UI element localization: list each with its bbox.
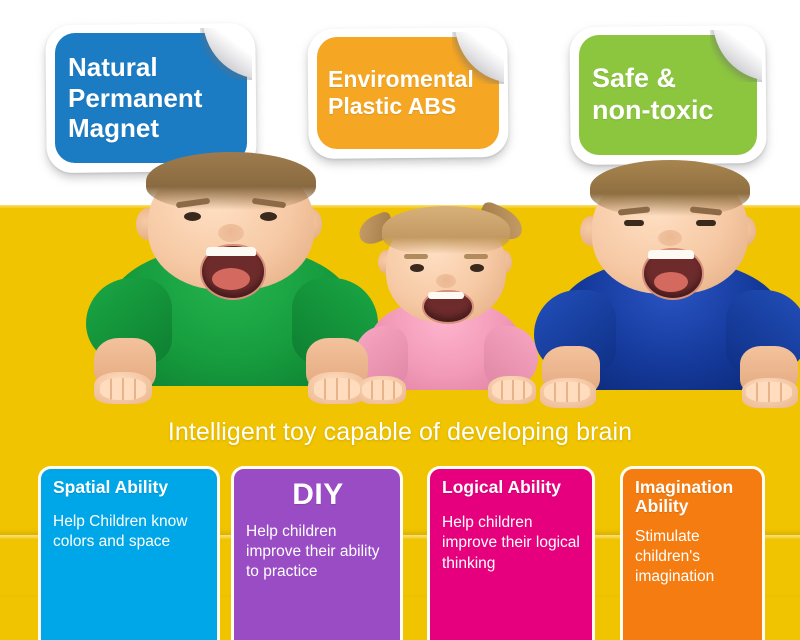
- eye-right: [260, 212, 277, 221]
- fingers-left: [100, 378, 146, 400]
- nose: [658, 230, 682, 246]
- eye-left: [184, 212, 201, 221]
- card-diy: DIY Help children improve their ability …: [231, 466, 403, 640]
- fingers-left: [544, 382, 590, 402]
- sticker-label: Enviromental Plastic ABS: [308, 28, 508, 158]
- card-body: Stimulate children's imagination: [635, 527, 752, 587]
- eyebrow-left: [404, 254, 428, 259]
- tongue: [212, 268, 250, 290]
- sticker-line-1: Enviromental: [328, 66, 490, 93]
- card-body: Help Children know colors and space: [53, 512, 207, 552]
- teeth-upper: [428, 292, 464, 299]
- card-heading: Spatial Ability: [53, 478, 207, 497]
- card-body: Help children improve their ability to p…: [246, 522, 390, 582]
- sticker-line-3: Magnet: [68, 113, 238, 143]
- child-boy-green-shirt: [80, 150, 380, 400]
- sticker-line-2: non-toxic: [592, 95, 748, 127]
- eyebrow-right: [464, 254, 488, 259]
- sticker-line-2: Plastic ABS: [328, 93, 490, 120]
- hair-fringe: [382, 206, 510, 254]
- card-heading: DIY: [246, 478, 390, 511]
- child-boy-blue-shirt: [530, 150, 800, 400]
- card-heading: Logical Ability: [442, 478, 582, 497]
- product-infographic: Natural Permanent Magnet Enviromental Pl…: [0, 0, 800, 640]
- card-spatial-ability: Spatial Ability Help Children know color…: [38, 466, 220, 640]
- sticker-line-1: Natural: [68, 52, 238, 82]
- card-logical-ability: Logical Ability Help children improve th…: [427, 466, 595, 640]
- teeth-upper: [648, 250, 694, 259]
- hair: [590, 160, 750, 216]
- sticker-label: Safe & non-toxic: [570, 26, 766, 164]
- teeth-upper: [206, 247, 256, 256]
- tagline: Intelligent toy capable of developing br…: [0, 418, 800, 447]
- eye-left: [410, 264, 424, 272]
- card-heading: Imagination Ability: [635, 478, 752, 517]
- child-girl-pink-shirt: [352, 150, 542, 400]
- sticker-line-2: Permanent: [68, 83, 238, 113]
- fingers-right: [746, 382, 792, 402]
- children-photo-group: [0, 150, 800, 400]
- fingers-right: [492, 380, 532, 400]
- tongue: [654, 272, 688, 292]
- nose: [436, 274, 456, 288]
- nose: [218, 224, 244, 242]
- feature-card-row: Spatial Ability Help Children know color…: [0, 462, 800, 640]
- hair: [146, 152, 316, 210]
- fingers-left: [362, 380, 402, 400]
- eye-left: [624, 220, 644, 226]
- sticker-line-1: Safe &: [592, 63, 748, 95]
- card-imagination-ability: Imagination Ability Stimulate children's…: [620, 466, 765, 640]
- card-body: Help children improve their logical thin…: [442, 513, 582, 573]
- sticker-enviromental-plastic-abs: Enviromental Plastic ABS: [308, 28, 508, 158]
- sticker-safe-non-toxic: Safe & non-toxic: [570, 26, 766, 164]
- eye-right: [470, 264, 484, 272]
- fingers-right: [314, 378, 360, 400]
- eye-right: [696, 220, 716, 226]
